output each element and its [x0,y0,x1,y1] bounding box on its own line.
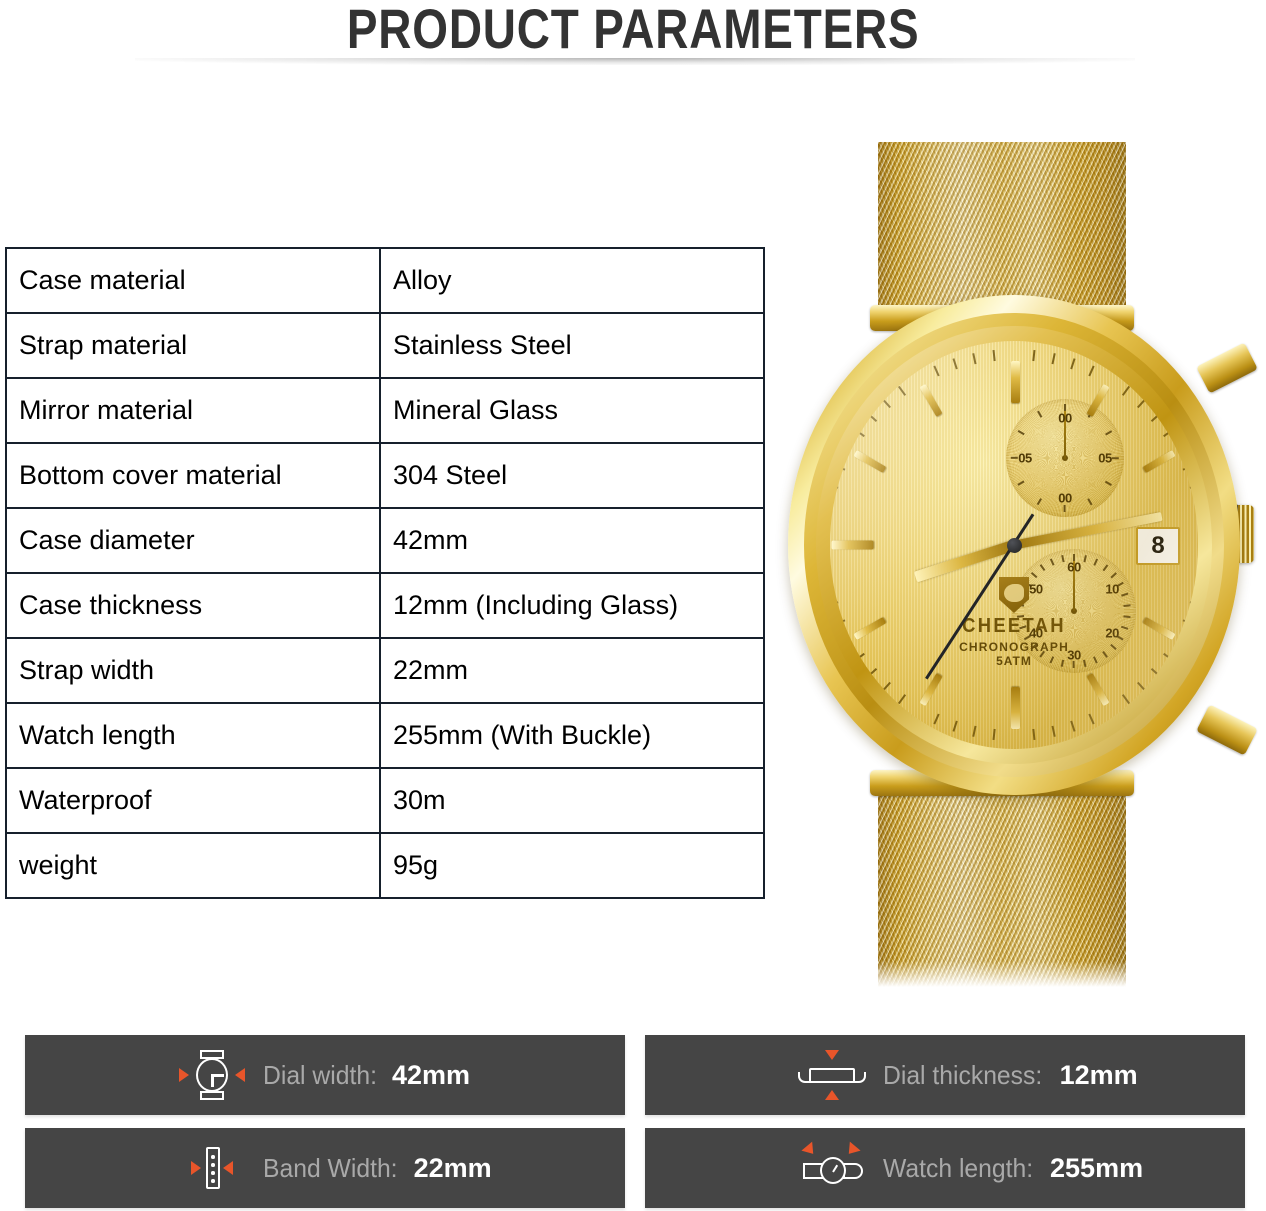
subdial-tick [1111,572,1117,578]
arrow-left-icon [223,1161,233,1175]
subdial-tick [1020,593,1027,597]
info-bar-band-width: Band Width: 22mm [25,1128,625,1208]
subdial-tick [1050,559,1054,566]
subdial-tick [1040,564,1045,571]
chronograph-pusher-bottom [1196,704,1258,755]
spec-value: 255mm (With Buckle) [380,703,764,768]
hour-marker [831,541,873,550]
watch-front-icon [175,1046,249,1104]
subdial-tick [1040,651,1045,658]
subdial-number: 05 [1018,451,1031,466]
subdial-tick [1024,635,1031,640]
minute-tick [1190,601,1198,606]
watch-side-lug-right [852,1072,866,1083]
watch-case-middle: 00050005 601020304050 CHEETAH CHRONOGRAP… [804,313,1224,777]
table-row: weight 95g [6,833,764,898]
minute-tick [855,653,865,661]
subdial-tick [1088,498,1093,505]
minute-hand [1013,512,1162,549]
watch-product-image: 00050005 601020304050 CHEETAH CHRONOGRAP… [760,120,1266,1010]
subdial-tick [1084,555,1087,562]
minute-tick [882,682,891,692]
strap-hole-1 [211,1155,215,1159]
minute-tick [1088,366,1094,377]
minute-tick [1151,668,1161,677]
minute-tick [1151,413,1161,422]
product-parameters-table: Case material Alloy Strap material Stain… [5,247,765,899]
spec-label: weight [6,833,380,898]
spec-highlight-bars: Dial width: 42mm Dial thickness: 12mm Ba… [25,1035,1245,1208]
spec-label: Watch length [6,703,380,768]
spec-value: Mineral Glass [380,378,764,443]
minute-tick [868,668,878,677]
subdial-number: 60 [1067,560,1080,575]
brand-subtitle-chronograph: CHRONOGRAPH [924,640,1104,654]
minute-tick [1032,729,1035,740]
subdial-tick [1037,411,1042,418]
spec-value: Alloy [380,248,764,313]
info-bar-watch-length: Watch length: 255mm [645,1128,1245,1208]
subdial-tick [1112,457,1119,459]
subdial-top: 00050005 [1006,399,1124,517]
subdial-tick [1103,651,1108,658]
minute-tick [1137,399,1146,409]
subdial-tick [1050,656,1054,663]
minute-tick [972,726,976,737]
table-row: Case diameter 42mm [6,508,764,573]
subdial-tick [1064,505,1066,512]
minute-tick [830,503,833,507]
minute-tick [830,601,838,606]
date-window: 8 [1136,527,1180,565]
minute-tick [1051,726,1055,737]
watch-length-icon [795,1139,869,1197]
minute-tick [972,353,976,364]
watch-side-icon [795,1046,869,1104]
subdial-tick [1121,593,1128,597]
table-row: Watch length 255mm (With Buckle) [6,703,764,768]
arrow-left-icon [235,1068,245,1082]
watch-case: 00050005 601020304050 CHEETAH CHRONOGRAP… [788,295,1240,795]
minute-tick [1122,694,1130,704]
spec-label: Case thickness [6,573,380,638]
subdial-tick [1124,604,1131,606]
hour-marker [1011,687,1020,729]
page-title: PRODUCT PARAMETERS [347,0,920,58]
spec-value: 30m [380,768,764,833]
mesh-band-lower [878,775,1126,987]
subdial-tick [1121,626,1128,630]
table-row: Case thickness 12mm (Including Glass) [6,573,764,638]
subdial-number: 00 [1058,411,1071,426]
watch-dial: 00050005 601020304050 CHEETAH CHRONOGRAP… [830,341,1198,749]
brand-name: CHEETAH [931,615,1097,638]
subdial-tick [1073,661,1075,668]
spec-label: Mirror material [6,378,380,443]
minute-tick [868,413,878,422]
subdial-bottom-hand [1073,561,1075,611]
watch-front-band-bottom [200,1091,224,1100]
subdial-tick [1124,615,1131,617]
subdial-tick [1011,457,1018,459]
spec-value: 22mm [380,638,764,703]
minute-tick [1070,721,1075,732]
subdial-tick [1064,404,1066,411]
minute-tick [1137,682,1146,692]
subdial-tick [1017,615,1024,617]
subdial-number: 10 [1105,582,1118,597]
minute-tick [1183,464,1194,470]
spec-label: Case diameter [6,508,380,573]
arrow-up-icon [825,1090,839,1100]
minute-tick [952,358,957,369]
subdial-number: 00 [1058,491,1071,506]
page-title-area: PRODUCT PARAMETERS [0,0,1266,62]
minute-tick [830,483,838,488]
minute-tick [993,729,996,740]
cheetah-logo-icon [999,577,1029,613]
hour-marker [919,673,942,706]
subdial-tick [1094,559,1098,566]
minute-tick [898,386,906,396]
minute-tick [1195,503,1198,507]
minute-tick [933,366,939,377]
minute-tick [1163,653,1173,661]
spec-label: Waterproof [6,768,380,833]
subdial-tick [1117,582,1124,587]
subdial-tick [1103,564,1108,571]
strap-body [206,1147,220,1189]
hour-marker [1142,617,1175,640]
watch-bezel: 00050005 601020304050 CHEETAH CHRONOGRAP… [816,326,1212,764]
info-bar-dial-thickness: Dial thickness: 12mm [645,1035,1245,1115]
subdial-tick [1031,644,1037,650]
mesh-band-upper [878,142,1126,318]
info-label: Watch length: [883,1153,1033,1184]
minute-tick [830,582,833,586]
table-row: Strap width 22mm [6,638,764,703]
subdial-number: 40 [1029,626,1042,641]
subdial-tick [1088,411,1093,418]
info-label: Dial thickness: [883,1060,1042,1091]
info-label: Band Width: [263,1153,398,1184]
subdial-bottom: 601020304050 [1012,549,1136,673]
strap-hole-3 [211,1171,215,1175]
strap-hole-2 [211,1163,215,1167]
spec-label: Case material [6,248,380,313]
arrow-right-icon [179,1068,189,1082]
spec-label: Strap material [6,313,380,378]
arrow-down-right-icon [843,1142,860,1159]
hour-marker [1011,361,1020,403]
hour-marker [853,450,886,473]
minute-tick [1190,483,1198,488]
subdial-tick [1017,604,1024,606]
spec-label: Strap width [6,638,380,703]
subdial-bottom-pin [1071,608,1077,614]
minute-tick [835,464,846,470]
subdial-tick [1105,430,1112,435]
subdial-tick [1018,430,1025,435]
subdial-number: 50 [1029,582,1042,597]
minute-tick [1088,714,1094,725]
subdial-tick [1111,644,1117,650]
subdial-tick [1061,555,1064,562]
info-value: 42mm [392,1060,470,1091]
subdial-tick [1117,635,1124,640]
hour-marker [919,384,942,417]
subdial-top-pin [1062,455,1068,461]
spec-value: Stainless Steel [380,313,764,378]
info-value: 255mm [1050,1153,1143,1184]
hour-hand [913,540,1015,583]
watch-front-hand-b [211,1074,214,1087]
brand-subtitle-water-resistance: 5ATM [924,654,1104,668]
spec-value: 95g [380,833,764,898]
subdial-tick [1061,660,1064,667]
table-row: Mirror material Mineral Glass [6,378,764,443]
minute-tick [1122,386,1130,396]
table-row: Waterproof 30m [6,768,764,833]
watch-strap-icon [175,1139,249,1197]
arrow-down-left-icon [801,1142,818,1159]
spec-value: 304 Steel [380,443,764,508]
info-value: 22mm [414,1153,492,1184]
subdial-tick [1018,481,1025,486]
info-label: Dial width: [263,1060,377,1091]
minute-tick [898,694,906,704]
subdial-tick [1084,660,1087,667]
table-row: Strap material Stainless Steel [6,313,764,378]
subdial-number: 30 [1067,648,1080,663]
table-body: Case material Alloy Strap material Stain… [6,248,764,898]
subdial-number: 20 [1105,626,1118,641]
subdial-tick [1105,481,1112,486]
second-hand [925,513,1034,679]
minute-tick [952,721,957,732]
hour-marker [853,617,886,640]
minute-tick [882,399,891,409]
minute-tick [835,619,846,625]
chronograph-pusher-top [1196,342,1258,393]
subdial-number: 05 [1098,451,1111,466]
subdial-tick [1020,626,1027,630]
minute-tick [1032,350,1035,361]
minute-tick [1183,619,1194,625]
subdial-top-hand [1064,411,1066,459]
table-row: Bottom cover material 304 Steel [6,443,764,508]
hands-center-cap [1007,538,1022,553]
minute-tick [1051,353,1055,364]
subdial-tick [1073,554,1075,561]
dial-branding: CHEETAH CHRONOGRAPH 5ATM [924,577,1104,668]
minute-tick [855,429,865,437]
subdial-tick [1024,582,1031,587]
arrow-down-icon [825,1050,839,1060]
spec-value: 42mm [380,508,764,573]
minute-tick [993,350,996,361]
subdial-tick [1037,498,1042,505]
strap-hole-4 [211,1179,215,1183]
watch-length-buckle [843,1163,863,1179]
subdial-tick [1094,656,1098,663]
info-bar-dial-width: Dial width: 42mm [25,1035,625,1115]
hour-marker [1086,384,1109,417]
arrow-right-icon [191,1161,201,1175]
watch-side-lug-left [798,1072,812,1083]
table-row: Case material Alloy [6,248,764,313]
hour-marker [1086,673,1109,706]
minute-tick [1070,358,1075,369]
minute-tick [1163,429,1173,437]
subdial-tick [1031,572,1037,578]
watch-side-case [809,1068,855,1083]
minute-tick [1195,582,1198,586]
spec-label: Bottom cover material [6,443,380,508]
title-underline-shadow [135,58,1135,65]
minute-tick [933,714,939,725]
hour-marker [1142,450,1175,473]
spec-value: 12mm (Including Glass) [380,573,764,638]
info-value: 12mm [1060,1060,1138,1091]
